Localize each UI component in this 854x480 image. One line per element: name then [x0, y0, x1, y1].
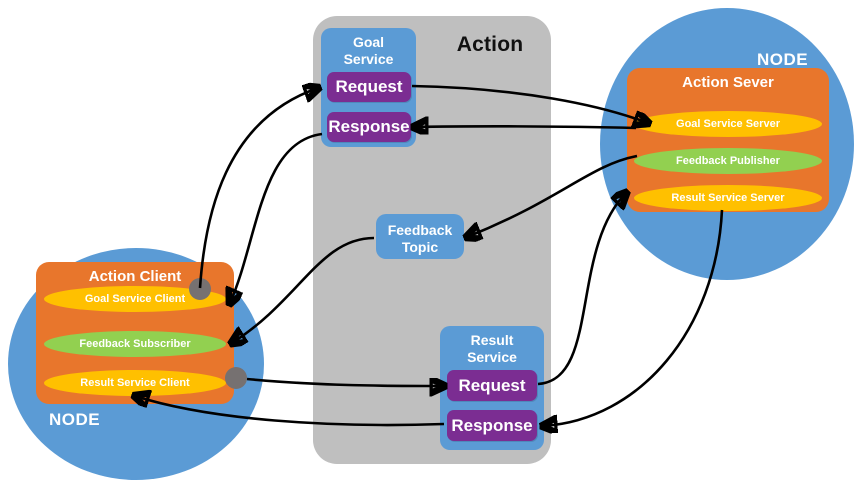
pill-goal-service-server[interactable]: Goal Service Server	[634, 111, 822, 137]
goal-service-title-line1: Goal	[321, 34, 416, 51]
action-server-title: Action Sever	[627, 74, 829, 91]
action-title: Action	[430, 33, 550, 57]
arrow-goal-client-to-request	[200, 88, 318, 288]
goal-service-response-box[interactable]: Response	[327, 112, 411, 142]
pill-feedback-subscriber[interactable]: Feedback Subscriber	[44, 331, 226, 357]
goal-service-request-box[interactable]: Request	[327, 72, 411, 102]
arrow-result-request-to-server	[538, 193, 626, 384]
arrow-goal-response-to-client	[230, 134, 322, 303]
connector-dot-result-client	[225, 367, 247, 389]
pill-result-service-client[interactable]: Result Service Client	[44, 370, 226, 396]
result-service-title: Result Service	[440, 332, 544, 366]
server-node-label: NODE	[757, 50, 808, 70]
feedback-topic-title: Feedback Topic	[376, 222, 464, 256]
result-service-title-line2: Service	[440, 349, 544, 366]
client-node-label: NODE	[49, 410, 100, 430]
result-service-response-box[interactable]: Response	[447, 410, 537, 441]
pill-result-service-server[interactable]: Result Service Server	[634, 185, 822, 211]
result-service-title-line1: Result	[440, 332, 544, 349]
feedback-topic-box[interactable]: Feedback Topic	[376, 214, 464, 259]
result-service-request-box[interactable]: Request	[447, 370, 537, 401]
goal-service-title: Goal Service	[321, 34, 416, 68]
feedback-topic-title-line1: Feedback	[376, 222, 464, 239]
pill-feedback-publisher[interactable]: Feedback Publisher	[634, 148, 822, 174]
diagram-canvas: Action Goal Service Request Response Fee…	[0, 0, 854, 480]
goal-service-title-line2: Service	[321, 51, 416, 68]
feedback-topic-title-line2: Topic	[376, 239, 464, 256]
connector-dot-goal-client	[189, 278, 211, 300]
